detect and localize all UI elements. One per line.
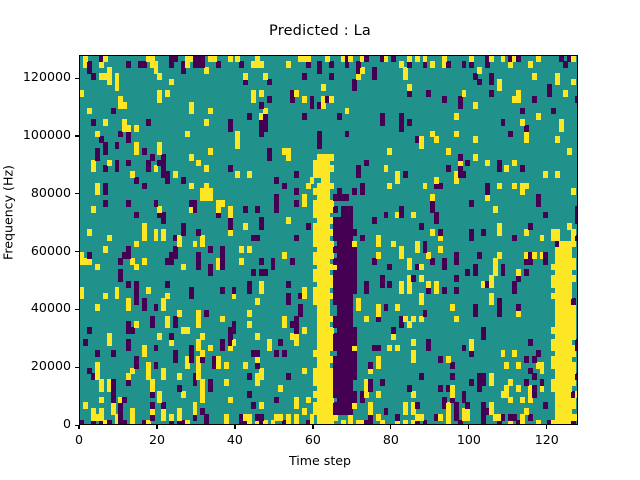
x-tick-100: 100 <box>469 425 470 426</box>
x-tick-label: 40 <box>205 432 265 447</box>
x-tick-mark <box>468 425 469 429</box>
y-tick-label: 100000 <box>23 127 71 142</box>
y-tick-label: 40000 <box>31 300 71 315</box>
x-tick-80: 80 <box>391 425 392 426</box>
heatmap-plot-area <box>79 55 578 425</box>
y-tick-60000: 60000 <box>0 252 79 253</box>
x-tick-label: 100 <box>439 432 499 447</box>
x-tick-60: 60 <box>313 425 314 426</box>
y-tick-label: 20000 <box>31 358 71 373</box>
x-tick-mark <box>546 425 547 429</box>
x-tick-40: 40 <box>235 425 236 426</box>
x-tick-mark <box>312 425 313 429</box>
chart-title: Predicted : La <box>0 23 640 39</box>
y-tick-40000: 40000 <box>0 309 79 310</box>
x-axis-label: Time step <box>0 453 640 468</box>
x-tick-label: 20 <box>127 432 187 447</box>
x-tick-mark <box>156 425 157 429</box>
x-tick-mark <box>78 425 79 429</box>
y-tick-label: 60000 <box>31 243 71 258</box>
x-tick-label: 80 <box>361 432 421 447</box>
matplotlib-figure: Predicted : La Frequency (Hz) 0200004000… <box>0 0 640 480</box>
y-axis-label: Frequency (Hz) <box>1 113 16 313</box>
x-tick-label: 120 <box>517 432 577 447</box>
heatmap-image <box>80 56 578 425</box>
x-tick-mark <box>390 425 391 429</box>
x-tick-0: 0 <box>79 425 80 426</box>
x-tick-label: 60 <box>283 432 343 447</box>
y-tick-label: 0 <box>63 416 71 431</box>
x-tick-120: 120 <box>547 425 548 426</box>
x-tick-20: 20 <box>157 425 158 426</box>
y-tick-120000: 120000 <box>0 78 79 79</box>
y-tick-label: 120000 <box>23 69 71 84</box>
y-tick-label: 80000 <box>31 185 71 200</box>
x-tick-mark <box>234 425 235 429</box>
y-tick-20000: 20000 <box>0 367 79 368</box>
y-tick-100000: 100000 <box>0 136 79 137</box>
y-tick-80000: 80000 <box>0 194 79 195</box>
x-tick-label: 0 <box>49 432 109 447</box>
y-tick-0: 0 <box>0 425 79 426</box>
